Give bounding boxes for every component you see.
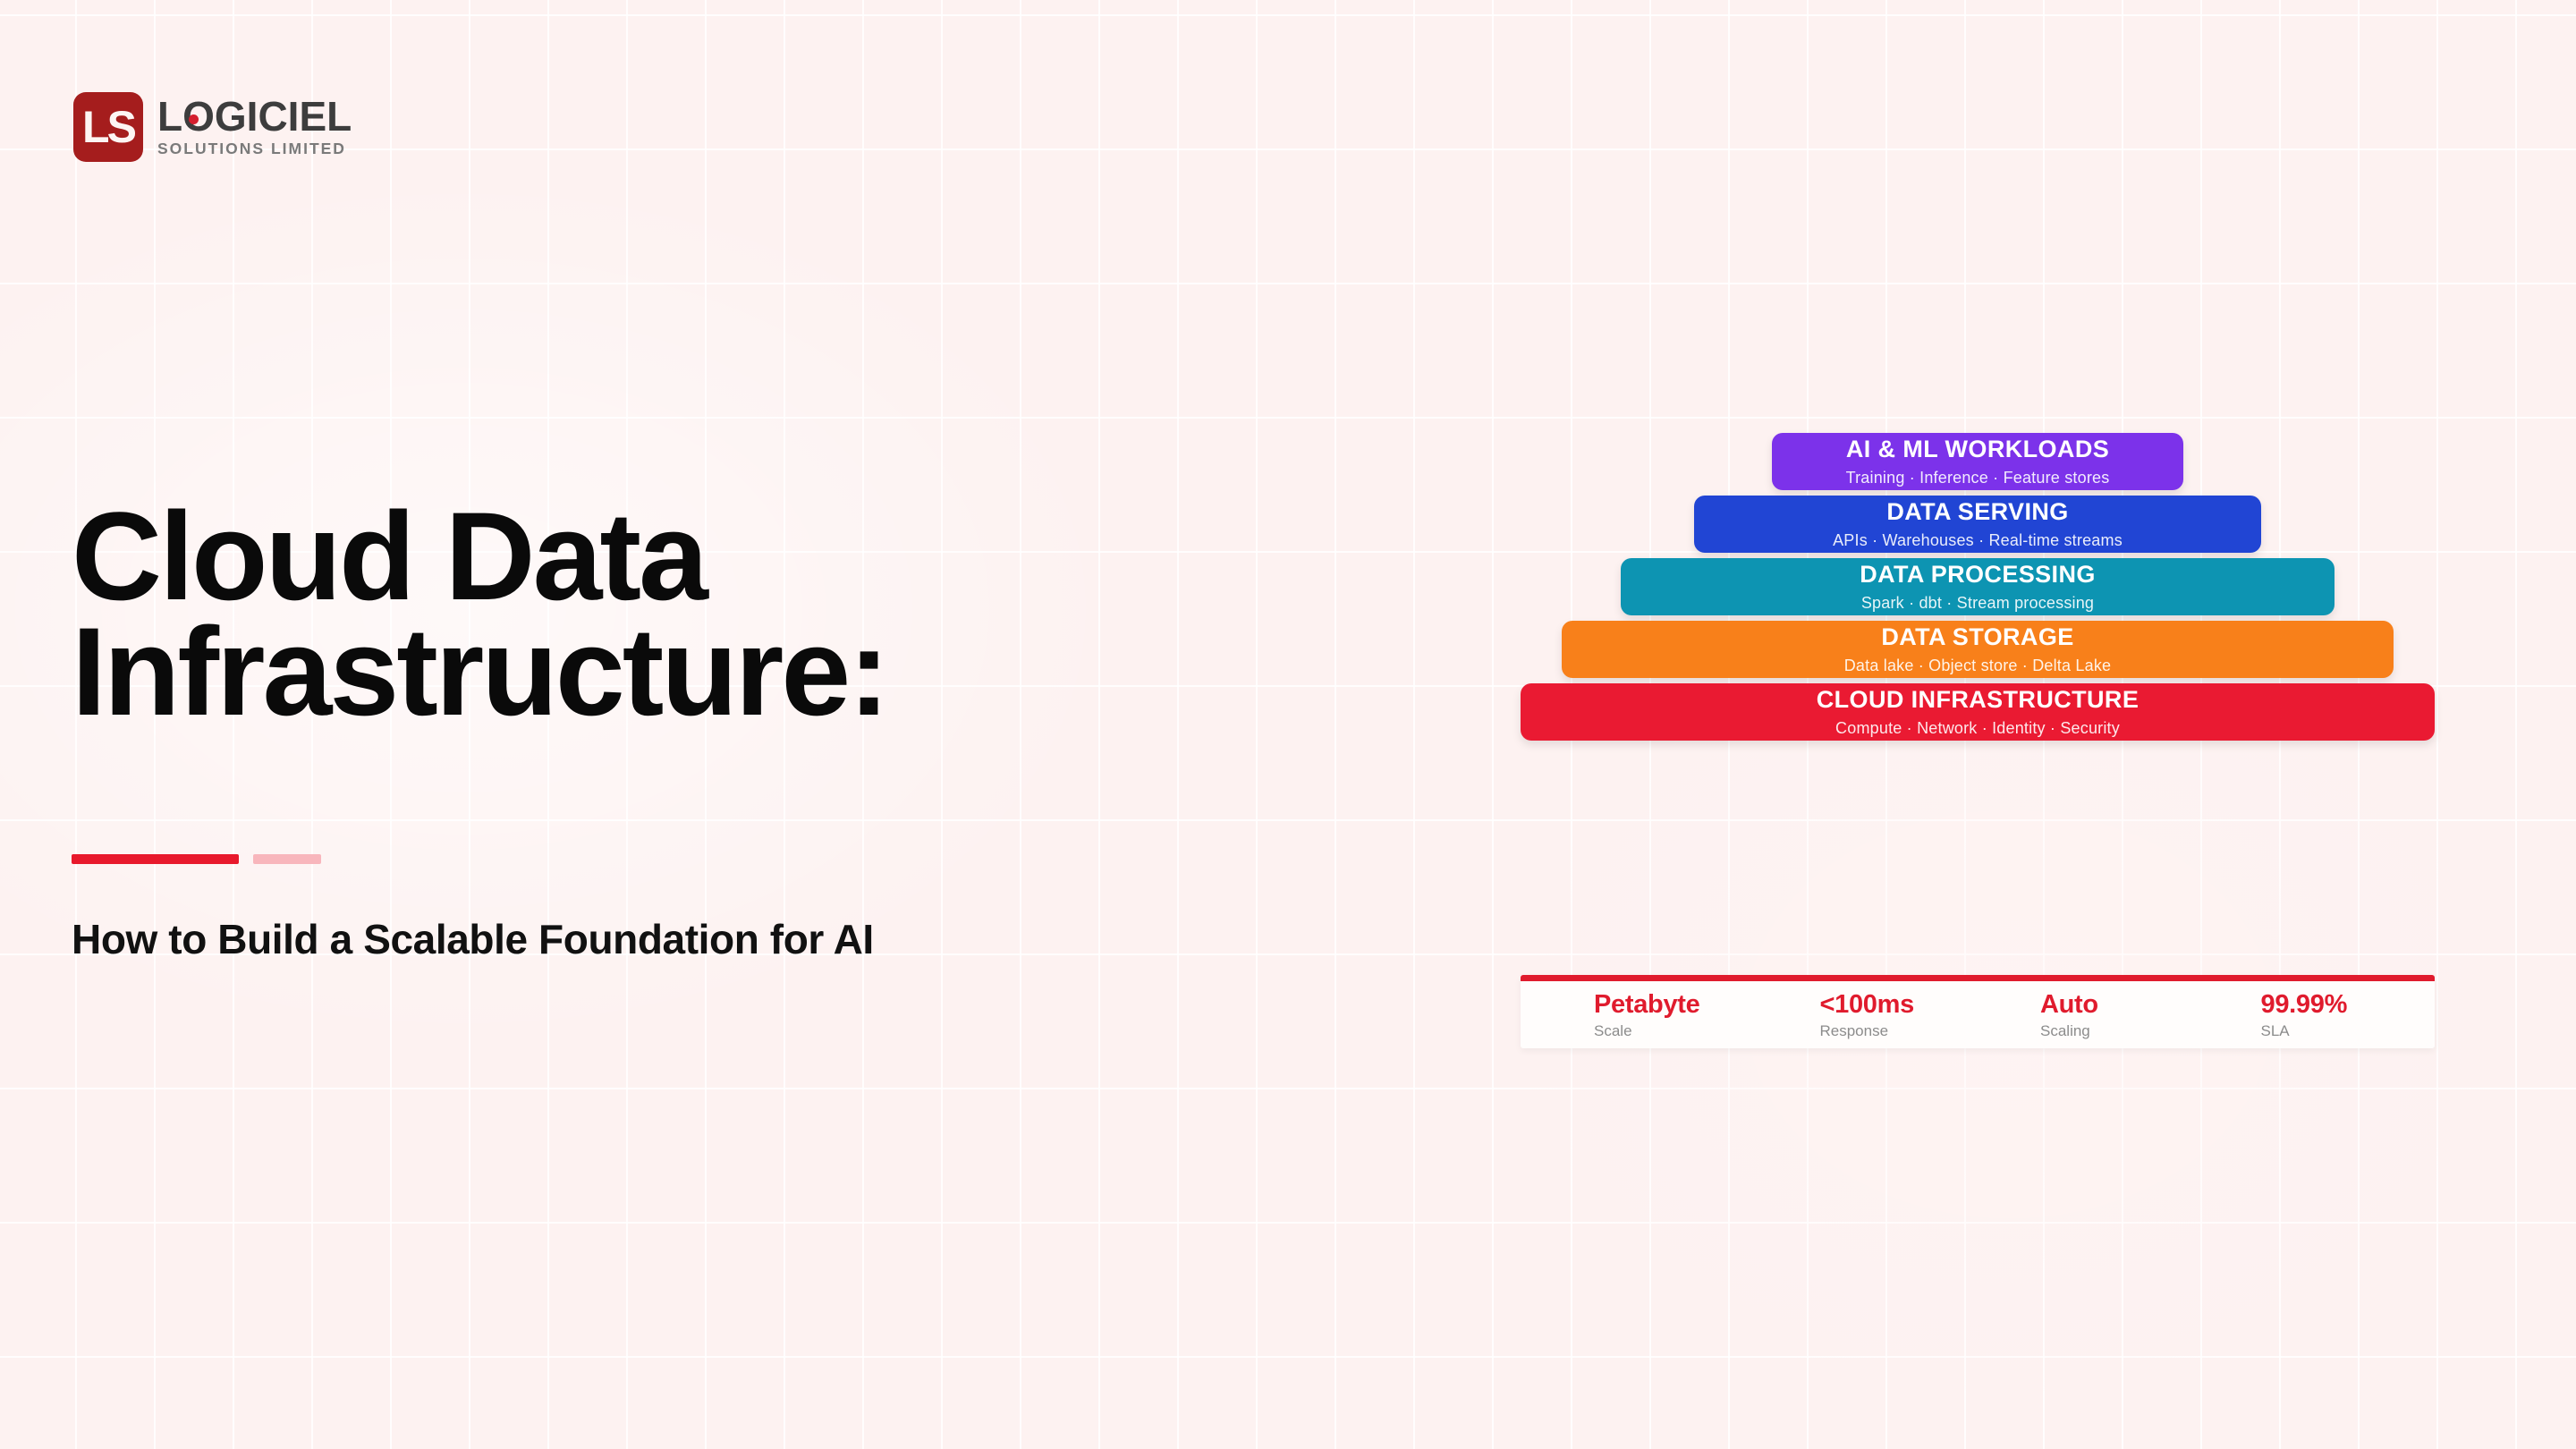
infrastructure-pyramid-chart: AI & ML WORKLOADSTraining · Inference · … (1521, 433, 2435, 746)
pyramid-layer-subtitle: Data lake · Object store · Delta Lake (1844, 657, 2112, 674)
pyramid-layer[interactable]: DATA PROCESSINGSpark · dbt · Stream proc… (1621, 558, 2334, 615)
pyramid-layer-subtitle: Training · Inference · Feature stores (1846, 470, 2110, 486)
page-title: Cloud Data Infrastructure: (72, 499, 1234, 730)
stat-item: PetabyteScale (1521, 992, 1768, 1038)
stat-value: 99.99% (2261, 992, 2436, 1018)
logo-mark-text: LS (82, 105, 134, 149)
logo-company-name-text: LOGICIEL (157, 93, 352, 140)
pyramid-layer[interactable]: DATA STORAGEData lake · Object store · D… (1562, 621, 2394, 678)
slide-canvas: LS LOGICIEL SOLUTIONS LIMITED Cloud Data… (0, 0, 2576, 1449)
logo-target-dot-icon (189, 114, 199, 124)
stat-label: SLA (2261, 1023, 2436, 1038)
stat-label: Response (1820, 1023, 1995, 1038)
stats-bar: PetabyteScale<100msResponseAutoScaling99… (1521, 975, 2435, 1048)
pyramid-layer[interactable]: AI & ML WORKLOADSTraining · Inference · … (1772, 433, 2183, 490)
divider-bar-accent (253, 854, 321, 864)
page-title-line-1: Cloud Data (72, 499, 1234, 614)
divider-bar-primary (72, 854, 239, 864)
pyramid-layer[interactable]: CLOUD INFRASTRUCTURECompute · Network · … (1521, 683, 2435, 741)
stat-item: AutoScaling (1994, 992, 2215, 1038)
stat-label: Scaling (2040, 1023, 2215, 1038)
page-subtitle: How to Build a Scalable Foundation for A… (72, 915, 874, 963)
pyramid-layer-title: AI & ML WORKLOADS (1846, 437, 2109, 462)
stat-item: 99.99%SLA (2215, 992, 2436, 1038)
pyramid-layer-title: CLOUD INFRASTRUCTURE (1817, 688, 2139, 712)
pyramid-layer[interactable]: DATA SERVINGAPIs · Warehouses · Real-tim… (1694, 496, 2261, 553)
stat-label: Scale (1594, 1023, 1768, 1038)
pyramid-layer-title: DATA PROCESSING (1860, 563, 2096, 587)
logo-mark-icon: LS (73, 92, 143, 162)
pyramid-layer-title: DATA STORAGE (1881, 625, 2073, 649)
page-title-line-2: Infrastructure: (72, 614, 1234, 730)
pyramid-layer-subtitle: Compute · Network · Identity · Security (1835, 720, 2120, 736)
pyramid-layer-subtitle: APIs · Warehouses · Real-time streams (1833, 532, 2123, 548)
logo-company-subtitle: SOLUTIONS LIMITED (157, 140, 352, 158)
title-divider (72, 854, 321, 864)
stat-item: <100msResponse (1768, 992, 1995, 1038)
logo-wordmark: LOGICIEL SOLUTIONS LIMITED (157, 96, 352, 159)
brand-logo[interactable]: LS LOGICIEL SOLUTIONS LIMITED (73, 92, 352, 162)
stat-value: Auto (2040, 992, 2215, 1018)
pyramid-layer-title: DATA SERVING (1886, 500, 2068, 524)
logo-company-name: LOGICIEL (157, 96, 352, 138)
stat-value: Petabyte (1594, 992, 1768, 1018)
stat-value: <100ms (1820, 992, 1995, 1018)
pyramid-layer-subtitle: Spark · dbt · Stream processing (1861, 595, 2094, 611)
